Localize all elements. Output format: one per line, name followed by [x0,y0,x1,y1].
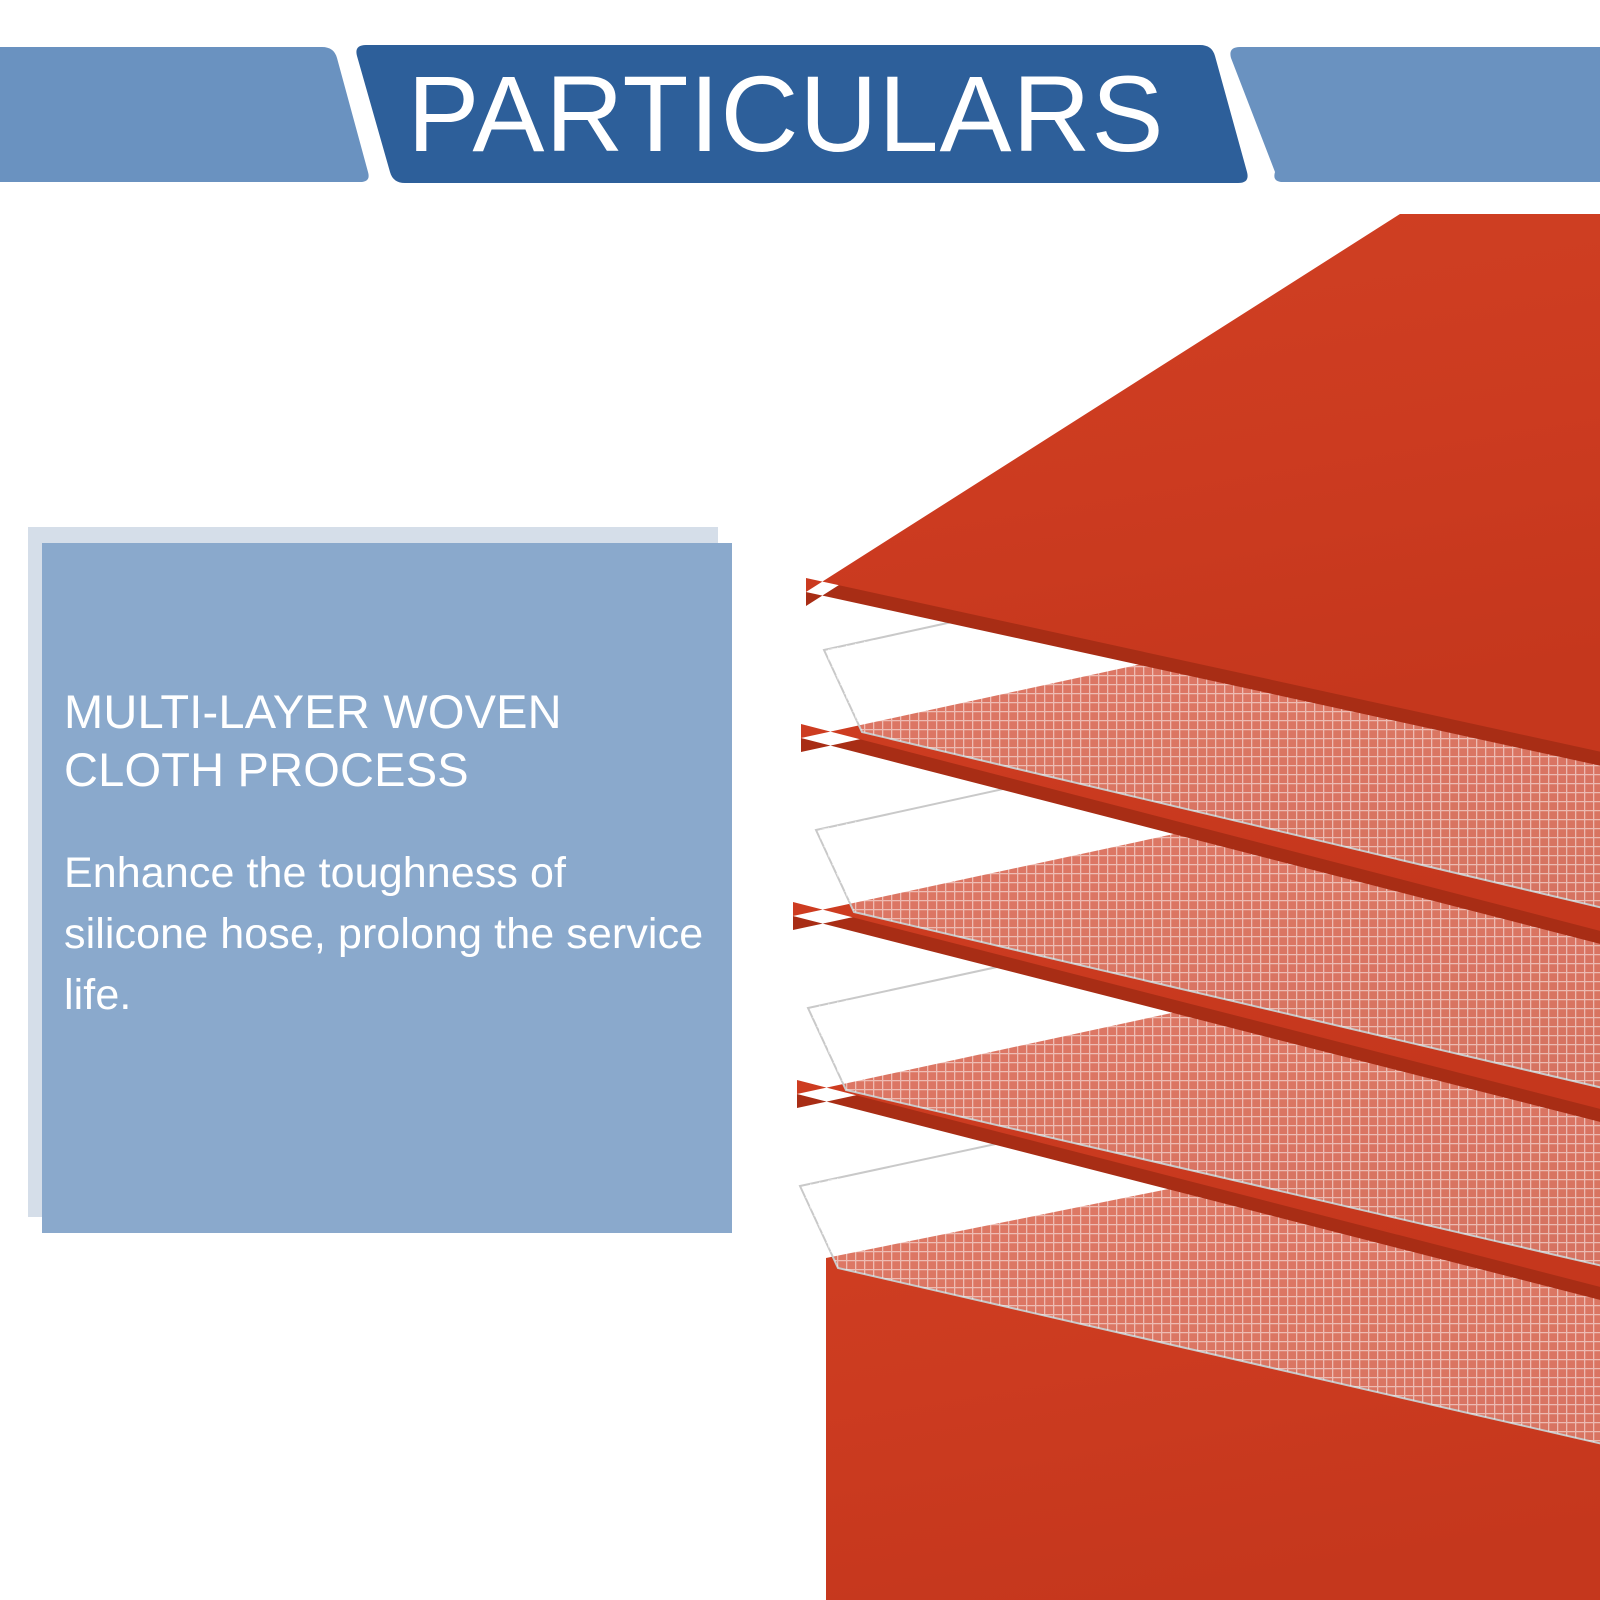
card-heading: MULTI-LAYER WOVEN CLOTH PROCESS [64,683,704,799]
silicone-sheet-1 [806,214,1600,770]
silicone-sheet-4 [797,916,1600,1305]
card-paragraph: Enhance the toughness of silicone hose, … [64,843,704,1026]
page-title: PARTICULARS [0,44,1586,184]
infographic-page: PARTICULARS MULTI-LAYER WOVEN CLOTH PROC… [0,0,1600,1600]
silicone-sheet-2 [801,560,1600,949]
woven-cloth-1 [824,476,1600,912]
woven-cloth-4 [800,1010,1600,1448]
woven-cloth-2 [816,654,1600,1092]
silicone-sheet-5 [826,1098,1600,1600]
header-banner: PARTICULARS [0,0,1600,200]
text-card: MULTI-LAYER WOVEN CLOTH PROCESS Enhance … [42,543,732,1233]
silicone-sheet-3 [793,738,1600,1127]
text-card-content: MULTI-LAYER WOVEN CLOTH PROCESS Enhance … [64,683,704,1026]
woven-cloth-3 [808,832,1600,1270]
